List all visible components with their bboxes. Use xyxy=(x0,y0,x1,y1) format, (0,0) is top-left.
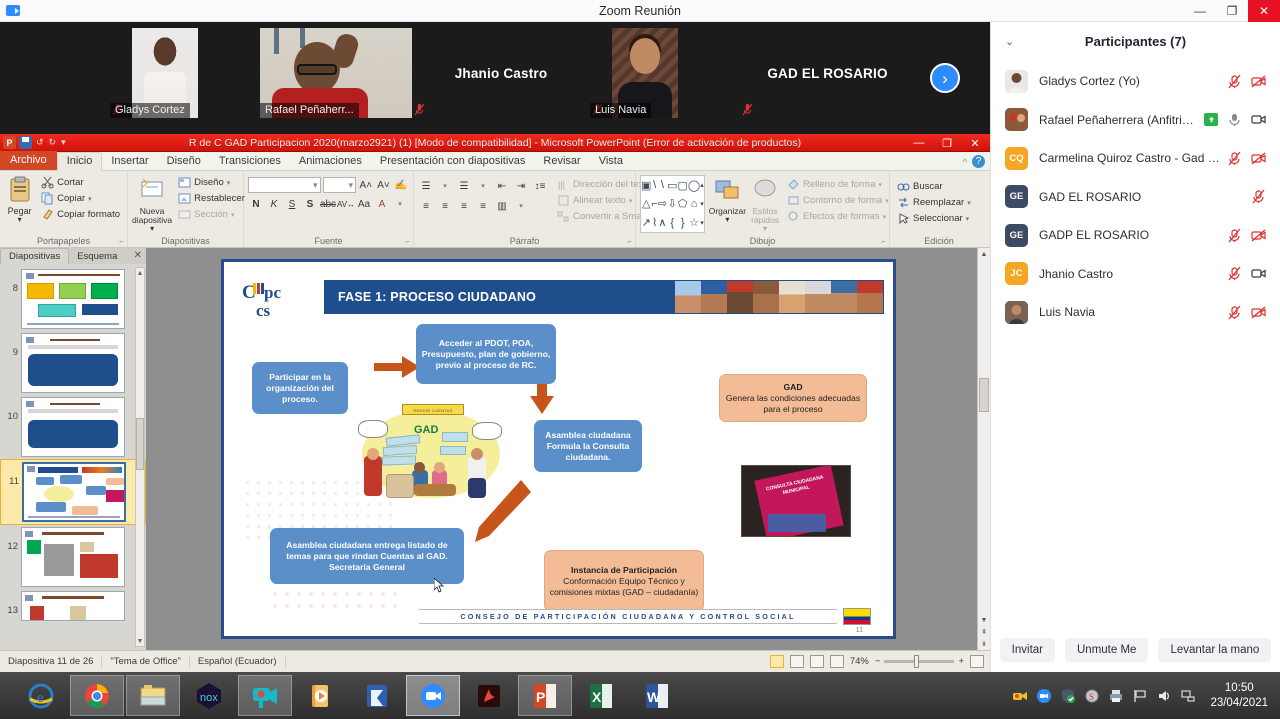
participant-row-carmelina[interactable]: CQ Carmelina Quiroz Castro - Gad S... xyxy=(991,139,1280,178)
text-shadow-button[interactable]: S xyxy=(302,196,318,212)
cut-label: Cortar xyxy=(57,177,83,188)
reset-icon xyxy=(178,192,191,205)
copy-label: Copiar xyxy=(57,193,85,204)
columns-button[interactable]: ▥ xyxy=(494,198,510,214)
scroll-up-icon[interactable]: ▲ xyxy=(978,248,990,260)
filmstrip-next-button[interactable]: › xyxy=(915,22,975,134)
invite-button[interactable]: Invitar xyxy=(1000,638,1055,662)
system-tray: S 10:50 23/04/2021 xyxy=(1012,681,1280,710)
face-photo xyxy=(753,281,779,313)
reset-label: Restablecer xyxy=(194,193,245,204)
search-binoculars-icon xyxy=(897,180,910,193)
shapes-more-icon[interactable]: ▾ xyxy=(700,219,704,227)
thumbnail-slide-11[interactable]: 11 xyxy=(0,459,146,525)
chevron-down-icon[interactable]: ▾ xyxy=(18,216,22,224)
slide-thumbnail-pane: Diapositivas Esquema ✕ 8 xyxy=(0,248,146,650)
section-label: Sección xyxy=(194,209,228,220)
next-slide-icon[interactable]: ⇟ xyxy=(978,638,990,650)
slide-photo-card: CONSULTA CIUDADANA MUNICIPAL xyxy=(741,465,851,537)
chevron-down-icon[interactable]: ▾ xyxy=(437,178,453,194)
video-tile-label: Luis Navia xyxy=(590,103,651,118)
shapes-gallery[interactable]: ▣ \ \ ▭ ▢ ◯ ▴ △ ⌐ ⇨ ⇩ ⬠ ⌂ xyxy=(640,175,705,233)
slide-footer: CONSEJO DE PARTICIPACIÓN CIUDADANA Y CON… xyxy=(419,609,837,624)
zoom-tray-icon[interactable] xyxy=(1036,688,1052,704)
participant-name: GAD EL ROSARIO xyxy=(1039,190,1245,204)
thumbnail-slide-13[interactable]: 13 xyxy=(0,589,146,623)
thumbnail-slide-10[interactable]: 10 xyxy=(0,395,146,459)
taskbar-google-chrome[interactable] xyxy=(70,675,124,716)
unmute-me-button[interactable]: Unmute Me xyxy=(1065,638,1148,662)
ecuador-flag-icon xyxy=(843,608,871,625)
volume-icon[interactable] xyxy=(1156,688,1172,704)
shape-roundrect-icon[interactable]: ▢ xyxy=(677,179,687,192)
chevron-down-icon[interactable]: ▾ xyxy=(150,225,154,233)
slide-vertical-scrollbar[interactable]: ▲ ▼ ⇞ ⇟ xyxy=(977,248,990,650)
align-text-label: Alinear texto xyxy=(573,195,626,206)
chevron-down-icon[interactable]: ▾ xyxy=(227,179,231,187)
format-painter-button[interactable]: Copiar formato xyxy=(38,207,123,222)
zoom-window-title: Zoom Reunión xyxy=(0,4,1280,18)
line-spacing-button[interactable]: ↕≡ xyxy=(532,178,548,194)
dialog-launcher-icon[interactable]: ⌐ xyxy=(627,237,632,246)
chevron-down-icon[interactable]: ▾ xyxy=(475,178,491,194)
clock-date: 23/04/2021 xyxy=(1210,696,1268,710)
group-label-diapositivas: Diapositivas xyxy=(128,236,243,246)
chevron-down-icon[interactable]: ▾ xyxy=(88,195,92,203)
shape-line-icon[interactable]: \ xyxy=(653,179,656,191)
ppt-minimize-button[interactable]: — xyxy=(906,136,932,151)
shape-arrow-down-icon[interactable]: ⇩ xyxy=(668,197,677,210)
powerpoint-window-controls: — ❐ ✕ xyxy=(906,134,988,152)
network-icon[interactable] xyxy=(1180,688,1196,704)
chevron-down-icon[interactable]: ▾ xyxy=(967,199,971,207)
zoom-minimize-button[interactable]: — xyxy=(1184,0,1216,22)
participant-status-icons xyxy=(1227,151,1266,166)
cut-button[interactable]: Cortar xyxy=(38,175,123,190)
thumbnail-pane-tabs: Diapositivas Esquema ✕ xyxy=(0,248,146,264)
bold-button[interactable]: N xyxy=(248,196,264,212)
shape-effects-button[interactable]: Efectos de formas ▾ xyxy=(784,209,892,224)
photo-card-text: CONSULTA CIUDADANA MUNICIPAL xyxy=(754,465,835,502)
taskbar-internet-explorer[interactable]: e xyxy=(14,675,68,716)
smartart-icon xyxy=(557,210,570,223)
slide-canvas-area: C pc cs FASE 1: PROCESO CIUDADANO xyxy=(146,248,990,650)
shape-brace2-icon[interactable]: } xyxy=(681,217,685,229)
shape-arrow-icon[interactable]: \ xyxy=(661,179,664,191)
scanner-icon xyxy=(362,681,392,711)
tab-inicio[interactable]: Inicio xyxy=(57,152,103,171)
italic-button[interactable]: K xyxy=(266,196,282,212)
avatar-initials-text: JC xyxy=(1010,268,1022,279)
participant-row-gladys[interactable]: Gladys Cortez (Yo) xyxy=(991,62,1280,101)
face-photo xyxy=(779,281,805,313)
chevron-down-icon[interactable]: ▾ xyxy=(878,181,882,189)
taskbar-media-player[interactable] xyxy=(294,675,348,716)
raise-hand-button[interactable]: Levantar la mano xyxy=(1158,638,1271,662)
taskbar-clock[interactable]: 10:50 23/04/2021 xyxy=(1204,681,1274,710)
illustration-banner: RENDIR CUENTAS xyxy=(402,404,464,415)
taskbar-file-explorer[interactable] xyxy=(126,675,180,716)
numbering-button[interactable]: ☰ xyxy=(456,178,472,194)
scrollbar-thumb[interactable] xyxy=(136,418,144,470)
mic-off-icon[interactable] xyxy=(1227,305,1242,320)
slide-box-gad-text: Genera las condiciones adecuadas para el… xyxy=(724,393,862,415)
powerpoint-status-bar: Diapositiva 11 de 26 "Tema de Office" Es… xyxy=(0,650,990,672)
chevron-down-icon[interactable]: ▾ xyxy=(883,213,887,221)
video-off-icon[interactable] xyxy=(1251,74,1266,89)
thumbnail-image xyxy=(21,333,125,393)
font-color-button[interactable]: A xyxy=(374,196,390,212)
powerpoint-icon: P xyxy=(530,681,560,711)
justify-button[interactable]: ≡ xyxy=(475,198,491,214)
adobe-acrobat-icon xyxy=(474,681,504,711)
zoom-slider-knob[interactable] xyxy=(914,655,919,668)
shape-star-icon[interactable]: ☆ xyxy=(689,216,699,229)
change-case-button[interactable]: Aa xyxy=(356,196,372,212)
group-label-parrafo: Párrafo xyxy=(414,236,635,246)
slide-box-entrega-listado[interactable]: Asamblea ciudadana entrega listado de te… xyxy=(270,528,464,584)
zoom-in-button[interactable]: + xyxy=(958,656,964,667)
group-label-portapapeles: Portapapeles xyxy=(0,236,127,246)
format-painter-icon xyxy=(41,208,54,221)
shape-effects-label: Efectos de formas xyxy=(803,211,880,222)
face-photo xyxy=(701,281,727,313)
sound-app-icon[interactable]: S xyxy=(1084,688,1100,704)
excel-icon: X xyxy=(586,681,616,711)
ribbon-group-fuente: ▾ ▾ A˄ A˅ ✍ N K S S abc AV↔ xyxy=(244,171,414,247)
taskbar-nox-player[interactable]: nox xyxy=(182,675,236,716)
shape-outline-icon xyxy=(787,194,800,207)
layout-label: Diseño xyxy=(194,177,224,188)
arrow-1 xyxy=(374,354,422,380)
video-off-icon[interactable] xyxy=(1251,228,1266,243)
zoom-slider[interactable]: − + xyxy=(875,656,964,667)
shape-oval-icon[interactable]: ◯ xyxy=(688,179,700,192)
quick-styles-label: Estilos rápidos xyxy=(750,207,780,225)
zoom-meeting-window: Zoom Reunión — ❐ ✕ Gladys Cortez xyxy=(0,0,1280,672)
taskbar-excel[interactable]: X xyxy=(574,675,628,716)
new-slide-icon xyxy=(137,175,167,205)
font-name-combobox[interactable]: ▾ xyxy=(248,177,321,193)
avatar-initials: GE xyxy=(1005,224,1028,247)
zoom-slider-track[interactable] xyxy=(884,660,954,663)
taskbar-adobe-acrobat[interactable] xyxy=(462,675,516,716)
ribbon-group-diapositivas: Nueva diapositiva ▾ Diseño ▾ xyxy=(128,171,244,247)
slide-box-acceder[interactable]: Acceder al PDOT, POA, Presupuesto, plan … xyxy=(416,324,556,384)
chevron-down-icon[interactable]: ▾ xyxy=(763,225,767,233)
tab-vista[interactable]: Vista xyxy=(590,153,632,170)
avatar-initials: JC xyxy=(1005,262,1028,285)
thumbnail-number: 10 xyxy=(4,397,18,422)
chevron-down-icon[interactable]: ▾ xyxy=(885,197,889,205)
shape-arc-icon[interactable]: ∧ xyxy=(658,216,666,229)
flag-icon[interactable] xyxy=(1132,688,1148,704)
video-tile-label: Rafael Peñaherr... xyxy=(260,103,359,118)
shapes-scroll-icon[interactable]: ▴ xyxy=(700,181,704,189)
arrange-icon xyxy=(712,175,742,205)
section-icon xyxy=(178,208,191,221)
collapse-ribbon-icon[interactable]: ^ xyxy=(963,157,967,167)
thumbnail-image xyxy=(21,527,125,587)
zoom-maximize-button[interactable]: ❐ xyxy=(1216,0,1248,22)
align-center-button[interactable]: ≡ xyxy=(437,198,453,214)
shape-outline-label: Contorno de forma xyxy=(803,195,882,206)
quick-styles-button[interactable]: Estilos rápidos ▾ xyxy=(750,175,780,233)
reset-button[interactable]: Restablecer xyxy=(175,191,248,206)
thumbnail-image xyxy=(21,397,125,457)
scroll-up-icon[interactable]: ▲ xyxy=(136,268,144,278)
help-question-icon[interactable]: ? xyxy=(972,155,985,168)
thumbnail-slide-12[interactable]: 12 xyxy=(0,525,146,589)
internet-explorer-icon: e xyxy=(26,681,56,711)
avatar-initials-text: GE xyxy=(1010,230,1024,241)
participant-row-rafael[interactable]: Rafael Peñaherrera (Anfitrión) xyxy=(991,101,1280,140)
shrink-font-button[interactable]: A˅ xyxy=(376,177,392,193)
participant-row-gad-el-rosario[interactable]: GE GAD EL ROSARIO xyxy=(991,178,1280,217)
status-zoom-level: 74% xyxy=(850,656,869,667)
thumbnail-number: 8 xyxy=(4,269,18,294)
word-icon: W xyxy=(642,681,672,711)
zoom-close-button[interactable]: ✕ xyxy=(1248,0,1280,22)
svg-text:|||: ||| xyxy=(558,180,565,190)
shape-freeform-icon[interactable]: ⌇ xyxy=(652,216,657,229)
status-slide-info: Diapositiva 11 de 26 xyxy=(0,655,102,669)
dialog-launcher-icon[interactable]: ⌐ xyxy=(405,237,410,246)
chevron-right-icon: › xyxy=(930,63,960,93)
clear-formatting-icon[interactable]: ✍ xyxy=(393,177,409,193)
thumbnail-number: 11 xyxy=(5,462,19,487)
scrollbar-thumb[interactable] xyxy=(979,378,989,412)
mic-off-icon[interactable] xyxy=(1251,189,1266,204)
printer-icon[interactable] xyxy=(1108,688,1124,704)
tab-transiciones[interactable]: Transiciones xyxy=(210,153,290,170)
host-share-badge-icon xyxy=(1204,113,1218,126)
shape-chevron-icon[interactable]: ⌂ xyxy=(691,198,698,210)
shape-brace-icon[interactable]: { xyxy=(670,217,674,229)
ppt-restore-button[interactable]: ❐ xyxy=(934,136,960,151)
tab-esquema[interactable]: Esquema xyxy=(69,249,125,264)
slide-box-instancia[interactable]: Instancia de Participación Conformación … xyxy=(544,550,704,612)
participant-status-icons xyxy=(1227,74,1266,89)
face-photo xyxy=(805,281,831,313)
select-button[interactable]: Seleccionar ▾ xyxy=(894,211,974,226)
find-button[interactable]: Buscar xyxy=(894,179,974,194)
illustration-center-label: GAD xyxy=(414,424,438,436)
select-label: Seleccionar xyxy=(913,213,963,224)
paste-button[interactable]: Pegar ▾ xyxy=(4,175,35,235)
decrease-indent-button[interactable]: ⇤ xyxy=(494,178,510,194)
align-right-button[interactable]: ≡ xyxy=(456,198,472,214)
shape-arrow-right-icon[interactable]: ⇨ xyxy=(658,197,667,210)
tab-insertar[interactable]: Insertar xyxy=(102,153,157,170)
thumbnail-image xyxy=(22,462,126,522)
video-filmstrip: Gladys Cortez Rafael Peñaherr... Jhanio … xyxy=(0,22,990,134)
underline-button[interactable]: S xyxy=(284,196,300,212)
status-language[interactable]: Español (Ecuador) xyxy=(190,655,286,669)
security-shield-icon[interactable] xyxy=(1060,688,1076,704)
chevron-down-icon[interactable]: ▾ xyxy=(392,196,408,212)
shape-pentagon-icon[interactable]: ⬠ xyxy=(678,197,688,210)
view-slide-sorter-button[interactable] xyxy=(790,655,804,668)
scroll-down-icon[interactable]: ▼ xyxy=(136,636,144,646)
slide-box-participar[interactable]: Participar en la organización del proces… xyxy=(252,362,348,414)
grow-font-button[interactable]: A˄ xyxy=(358,177,374,193)
taskbar-powerpoint[interactable]: P xyxy=(518,675,572,716)
replace-button[interactable]: Reemplazar ▾ xyxy=(894,195,974,210)
taskbar-word[interactable]: W xyxy=(630,675,684,716)
svg-text:cs: cs xyxy=(256,301,271,320)
chevron-down-icon[interactable]: ▾ xyxy=(629,197,633,205)
view-normal-button[interactable] xyxy=(770,655,784,668)
powerpoint-title-bar: P ↺ ↻ ▾ R de C GAD Participacion 2020(ma… xyxy=(0,134,990,152)
arrange-button[interactable]: Organizar ▾ xyxy=(709,175,746,224)
increase-indent-button[interactable]: ⇥ xyxy=(513,178,529,194)
strikethrough-button[interactable]: abc xyxy=(320,196,336,212)
avatar xyxy=(1005,301,1028,324)
mic-off-icon[interactable] xyxy=(1227,74,1242,89)
ribbon-group-portapapeles: Pegar ▾ Cortar xyxy=(0,171,128,247)
taskbar-camera-recorder[interactable] xyxy=(238,675,292,716)
ribbon-tab-bar: Archivo Inicio Insertar Diseño Transicio… xyxy=(0,152,990,171)
taskbar-zoom[interactable] xyxy=(406,675,460,716)
participant-name: Luis Navia xyxy=(1039,305,1221,319)
google-chrome-icon xyxy=(82,681,112,711)
chevron-down-icon[interactable]: ▾ xyxy=(231,211,235,219)
layout-button[interactable]: Diseño ▾ xyxy=(175,175,248,190)
participant-row-jhanio[interactable]: JC Jhanio Castro xyxy=(991,255,1280,294)
tab-presentacion-con-diapositivas[interactable]: Presentación con diapositivas xyxy=(371,153,535,170)
thumbnail-scrollbar[interactable]: ▲ ▼ xyxy=(135,267,145,647)
mic-off-icon[interactable] xyxy=(1227,151,1242,166)
shape-rect-icon[interactable]: ▭ xyxy=(667,179,677,192)
people-photo-strip xyxy=(674,280,884,314)
webcam-icon[interactable] xyxy=(1012,688,1028,704)
thumbnail-slide-9[interactable]: 9 xyxy=(0,331,146,395)
slide-illustration: RENDIR CUENTAS GAD xyxy=(356,400,506,504)
ppt-close-button[interactable]: ✕ xyxy=(962,136,988,151)
view-slideshow-button[interactable] xyxy=(830,655,844,668)
scroll-down-icon[interactable]: ▼ xyxy=(978,614,990,626)
avatar xyxy=(1005,108,1028,131)
section-button[interactable]: Sección ▾ xyxy=(175,207,248,222)
camera-recorder-icon xyxy=(250,681,280,711)
zoom-window-controls: — ❐ ✕ xyxy=(1184,0,1280,22)
participant-row-gadp-el-rosario[interactable]: GE GADP EL ROSARIO xyxy=(991,216,1280,255)
slide-box-gad-title: GAD xyxy=(783,382,802,393)
taskbar-scanner[interactable] xyxy=(350,675,404,716)
tab-animaciones[interactable]: Animaciones xyxy=(290,153,371,170)
previous-slide-icon[interactable]: ⇞ xyxy=(978,626,990,638)
shape-fill-label: Relleno de forma xyxy=(803,179,875,190)
powerpoint-document-title: R de C GAD Participacion 2020(marzo2921)… xyxy=(0,137,990,149)
participant-name: Gladys Cortez (Yo) xyxy=(1039,74,1221,88)
svg-text:pc: pc xyxy=(264,283,281,302)
participant-name: GADP EL ROSARIO xyxy=(1039,228,1221,242)
thumbnail-list[interactable]: 8 xyxy=(0,264,146,650)
character-spacing-button[interactable]: AV↔ xyxy=(338,196,354,212)
tab-revisar[interactable]: Revisar xyxy=(534,153,589,170)
face-photo xyxy=(675,281,701,313)
video-tile-jhanio[interactable]: Jhanio Castro xyxy=(412,28,590,118)
mic-off-icon[interactable] xyxy=(1227,228,1242,243)
participant-status-icons xyxy=(1227,266,1266,281)
close-pane-icon[interactable]: ✕ xyxy=(134,250,142,261)
view-reading-button[interactable] xyxy=(810,655,824,668)
clock-time: 10:50 xyxy=(1210,681,1268,695)
video-on-icon[interactable] xyxy=(1251,112,1266,127)
shape-textbox-icon[interactable]: ▣ xyxy=(641,179,651,192)
mic-off-icon[interactable] xyxy=(1227,266,1242,281)
slide-canvas[interactable]: C pc cs FASE 1: PROCESO CIUDADANO xyxy=(221,259,896,639)
video-tile-gladys[interactable]: Gladys Cortez xyxy=(110,28,260,118)
video-tile-luis[interactable]: Luis Navia xyxy=(590,28,740,118)
slide-box-instancia-title: Instancia de Participación xyxy=(571,565,677,576)
chevron-down-icon[interactable]: ▾ xyxy=(966,215,970,223)
copy-button[interactable]: Copiar ▾ xyxy=(38,191,123,206)
fit-slide-to-window-button[interactable] xyxy=(970,655,984,668)
new-slide-label: Nueva diapositiva xyxy=(132,207,172,225)
thumbnail-slide-8[interactable]: 8 xyxy=(0,267,146,331)
bullets-button[interactable]: ☰ xyxy=(418,178,434,194)
mic-on-icon[interactable] xyxy=(1227,112,1242,127)
shape-effects-icon xyxy=(787,210,800,223)
zoom-out-button[interactable]: − xyxy=(875,656,881,667)
slide-box-formula-consulta[interactable]: Asamblea ciudadana Formula la Consulta c… xyxy=(534,420,642,472)
ribbon: Pegar ▾ Cortar xyxy=(0,171,990,248)
video-on-icon[interactable] xyxy=(1251,266,1266,281)
slide-box-instancia-text: Conformación Equipo Técnico y comisiones… xyxy=(549,576,699,598)
video-tile-gad-el-rosario[interactable]: GAD EL ROSARIO xyxy=(740,28,915,118)
font-size-combobox[interactable]: ▾ xyxy=(323,177,356,193)
windows-taskbar: e nox xyxy=(0,672,1280,719)
copy-icon xyxy=(41,192,54,205)
video-off-icon[interactable] xyxy=(1251,305,1266,320)
cut-scissors-icon xyxy=(41,176,54,189)
participant-status-icons xyxy=(1227,305,1266,320)
participants-panel: ⌄ Participantes (7) Gladys Cortez (Yo) xyxy=(990,22,1280,672)
chevron-down-icon[interactable]: ▾ xyxy=(725,216,729,224)
mouse-cursor xyxy=(434,578,444,593)
align-left-button[interactable]: ≡ xyxy=(418,198,434,214)
participants-header: ⌄ Participantes (7) xyxy=(991,22,1280,60)
quick-styles-icon xyxy=(750,175,780,205)
shape-curve-icon[interactable]: ↗ xyxy=(642,216,651,229)
thumbnail-image xyxy=(21,269,125,329)
video-tile-rafael[interactable]: Rafael Peñaherr... xyxy=(260,28,412,118)
video-off-icon[interactable] xyxy=(1251,151,1266,166)
tab-diseno[interactable]: Diseño xyxy=(158,153,210,170)
chevron-down-icon[interactable]: ▾ xyxy=(513,198,529,214)
thumbnail-number: 9 xyxy=(4,333,18,358)
shape-fill-button[interactable]: Relleno de forma ▾ xyxy=(784,177,892,192)
face-photo xyxy=(727,281,753,313)
dialog-launcher-icon[interactable]: ⌐ xyxy=(119,237,124,246)
shape-outline-button[interactable]: Contorno de forma ▾ xyxy=(784,193,892,208)
video-tile-label: Gladys Cortez xyxy=(110,103,190,118)
slide-box-gad[interactable]: GAD Genera las condiciones adecuadas par… xyxy=(719,374,867,422)
participant-row-luis[interactable]: Luis Navia xyxy=(991,293,1280,332)
shapes-scroll-icon[interactable]: ▾ xyxy=(700,200,704,208)
chevron-down-icon[interactable]: ⌄ xyxy=(1005,35,1014,48)
avatar xyxy=(1005,70,1028,93)
tab-diapositivas[interactable]: Diapositivas xyxy=(0,248,69,264)
dialog-launcher-icon[interactable]: ⌐ xyxy=(881,237,886,246)
shape-triangle-icon[interactable]: △ xyxy=(642,197,650,210)
tab-archivo[interactable]: Archivo xyxy=(0,151,57,170)
layout-icon xyxy=(178,176,191,189)
zoom-share-stage: Gladys Cortez Rafael Peñaherr... Jhanio … xyxy=(0,22,990,672)
new-slide-button[interactable]: Nueva diapositiva ▾ xyxy=(132,175,172,235)
